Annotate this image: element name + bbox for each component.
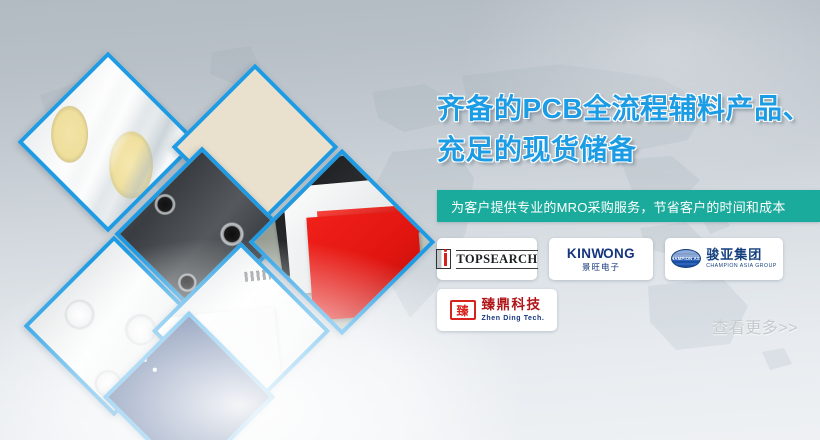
headline: 齐备的PCB全流程辅料产品、 充足的现货储备 (437, 88, 820, 170)
board-label-text: JIE (203, 353, 233, 374)
collage-tile-paper-sheets (249, 149, 436, 336)
collage-tile-white-film-rolls (23, 235, 204, 416)
subtitle-text: 为客户提供专业的MRO采购服务，节省客户的时间和成本 (437, 197, 786, 216)
board-sheet (157, 306, 282, 405)
champion-asia-globe-icon: CHAMPION ASIA (671, 249, 701, 268)
logo-card-champion-asia[interactable]: CHAMPION ASIA 骏亚集团 CHAMPION ASIA GROUP (665, 238, 783, 280)
kinwong-label: KINWONG (567, 247, 635, 261)
collage-tile-navy-sheet (103, 311, 276, 440)
banner-content: 齐备的PCB全流程辅料产品、 充足的现货储备 为客户提供专业的MRO采购服务，节… (432, 0, 820, 440)
champion-asia-label-cn: 骏亚集团 (706, 248, 777, 261)
collage-tile-grinding-wheels (114, 146, 289, 321)
board-barcode (244, 269, 271, 282)
kinwong-label-part2: W (591, 246, 603, 261)
navy-sheet-highlights (131, 346, 204, 393)
kinwong-label-part1: KIN (567, 246, 591, 261)
promo-banner: JIE 齐备的PCB全流程辅料产品、 充足的现货储备 为客户提供专业的MRO采购… (0, 0, 820, 440)
kinwong-label-cn: 景旺电子 (567, 263, 635, 272)
product-photo-collage: JIE (0, 0, 440, 440)
paper-sheet-black (267, 152, 385, 276)
paper-sheet-red (307, 210, 425, 321)
zhen-ding-mark-icon: 臻 (450, 300, 476, 320)
zhen-ding-label-en: Zhen Ding Tech. (482, 315, 545, 322)
view-more-link[interactable]: 查看更多>> (712, 314, 798, 338)
subtitle-bar: 为客户提供专业的MRO采购服务，节省客户的时间和成本 (437, 190, 820, 222)
headline-line-1: 齐备的PCB全流程辅料产品、 (437, 93, 811, 124)
topsearch-mark-icon (436, 249, 451, 269)
champion-asia-label-en: CHAMPION ASIA GROUP (706, 264, 777, 269)
headline-line-2: 充足的现货储备 (437, 129, 820, 170)
collage-tile-white-boards: JIE (152, 242, 330, 420)
zhen-ding-label-cn: 臻鼎科技 (482, 298, 545, 312)
logo-card-zhen-ding[interactable]: 臻 臻鼎科技 Zhen Ding Tech. (437, 289, 557, 331)
logo-card-kinwong[interactable]: KINWONG 景旺电子 (549, 238, 653, 280)
kinwong-label-part3: ONG (603, 246, 635, 261)
champion-asia-globe-text: CHAMPION ASIA (671, 256, 701, 261)
logo-card-topsearch[interactable]: TOPSEARCH (437, 238, 537, 280)
collage-tile-cream-rolls (172, 64, 339, 231)
topsearch-label: TOPSEARCH (456, 250, 537, 269)
collage-tile-film-rolls-yellow (17, 51, 198, 232)
paper-sheet-white (282, 178, 402, 294)
paper-sheet-red-edge (317, 205, 422, 240)
